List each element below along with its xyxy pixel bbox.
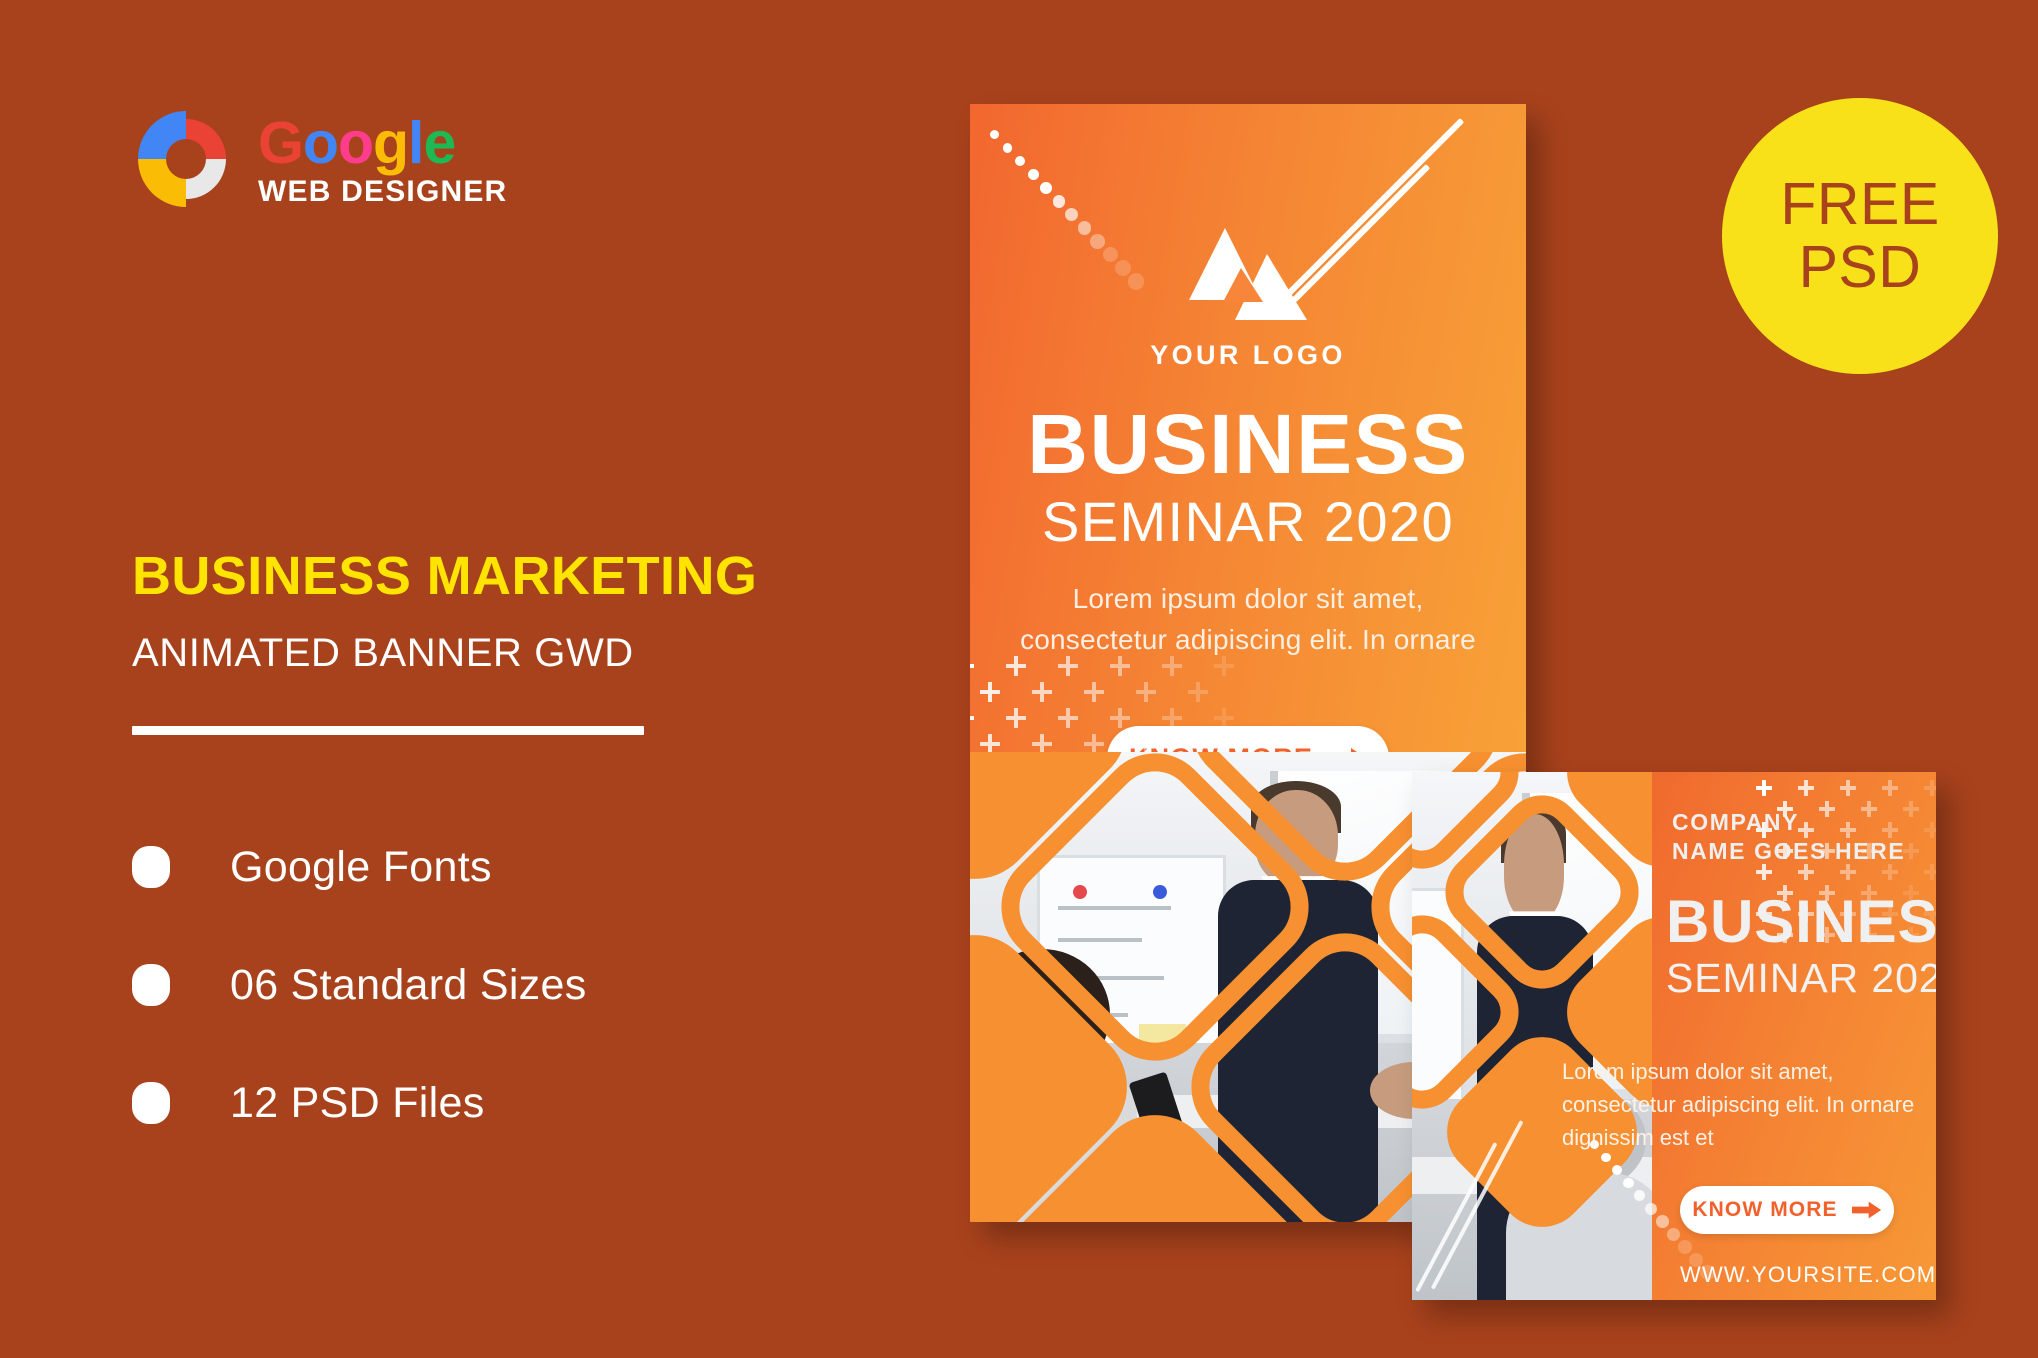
bullet-dot-icon	[132, 846, 170, 888]
banner-heading: BUSINESS	[1666, 892, 1936, 952]
list-item: 12 PSD Files	[132, 1066, 587, 1140]
bullet-dot-icon	[132, 1082, 170, 1124]
banner-photo-left	[1412, 772, 1674, 1300]
know-more-button[interactable]: KNOW MORE	[1680, 1186, 1894, 1234]
page-title: BUSINESS MARKETING	[132, 548, 757, 605]
gwd-wordmark: Google WEB DESIGNER	[258, 114, 507, 209]
banner-heading: BUSINESS	[970, 402, 1526, 486]
banner-body-line2: consectetur adipiscing elit. In ornare	[1014, 619, 1482, 660]
banner-heading-block: BUSINESS SEMINAR 2020	[1666, 892, 1936, 999]
banner-body-text: Lorem ipsum dolor sit amet, consectetur …	[1562, 1055, 1936, 1154]
know-more-label: KNOW MORE	[1692, 1198, 1837, 1222]
headline-block: BUSINESS MARKETING ANIMATED BANNER GWD	[132, 548, 757, 735]
free-psd-badge: FREE PSD	[1722, 98, 1998, 374]
banner-company-block: COMPANY NAME GOES HERE	[1672, 808, 1905, 866]
feature-label: 06 Standard Sizes	[230, 961, 587, 1010]
list-item: 06 Standard Sizes	[132, 948, 587, 1022]
banner-body-text: Lorem ipsum dolor sit amet, consectetur …	[1014, 578, 1482, 661]
google-web-designer-pinwheel-icon	[132, 105, 240, 213]
feature-label: Google Fonts	[230, 843, 492, 892]
web-designer-subtitle: WEB DESIGNER	[258, 175, 507, 209]
banner-subheading: SEMINAR 2020	[970, 494, 1526, 550]
feature-list: Google Fonts 06 Standard Sizes 12 PSD Fi…	[132, 830, 587, 1184]
banner-preview-medium: COMPANY NAME GOES HERE BUSINESS SEMINAR …	[1412, 772, 1936, 1300]
divider-rule	[132, 726, 644, 735]
google-web-designer-logo: Google WEB DESIGNER	[132, 105, 507, 213]
poster-canvas: Google WEB DESIGNER BUSINESS MARKETING A…	[0, 0, 2038, 1358]
meeting-room-photo	[1412, 772, 1674, 1300]
free-psd-line1: FREE	[1780, 173, 1939, 236]
banner-subheading: SEMINAR 2020	[1666, 958, 1936, 999]
feature-label: 12 PSD Files	[230, 1079, 485, 1128]
banner-logo-text: YOUR LOGO	[1150, 340, 1346, 371]
google-word: Google	[258, 114, 507, 173]
banner-logo-block: YOUR LOGO	[970, 228, 1526, 371]
banner-company-name: COMPANY	[1672, 808, 1905, 837]
banner-website-url: WWW.YOURSITE.COM	[1680, 1262, 1936, 1288]
bullet-dot-icon	[132, 964, 170, 1006]
banner-heading-block: BUSINESS SEMINAR 2020	[970, 402, 1526, 550]
list-item: Google Fonts	[132, 830, 587, 904]
free-psd-line2: PSD	[1799, 236, 1922, 299]
banner-body-line1: Lorem ipsum dolor sit amet,	[1014, 578, 1482, 619]
mountain-triangle-logo-icon	[1189, 228, 1307, 320]
arrow-right-icon	[1852, 1200, 1882, 1220]
banner-company-tagline: NAME GOES HERE	[1672, 837, 1905, 866]
page-subtitle: ANIMATED BANNER GWD	[132, 631, 757, 676]
